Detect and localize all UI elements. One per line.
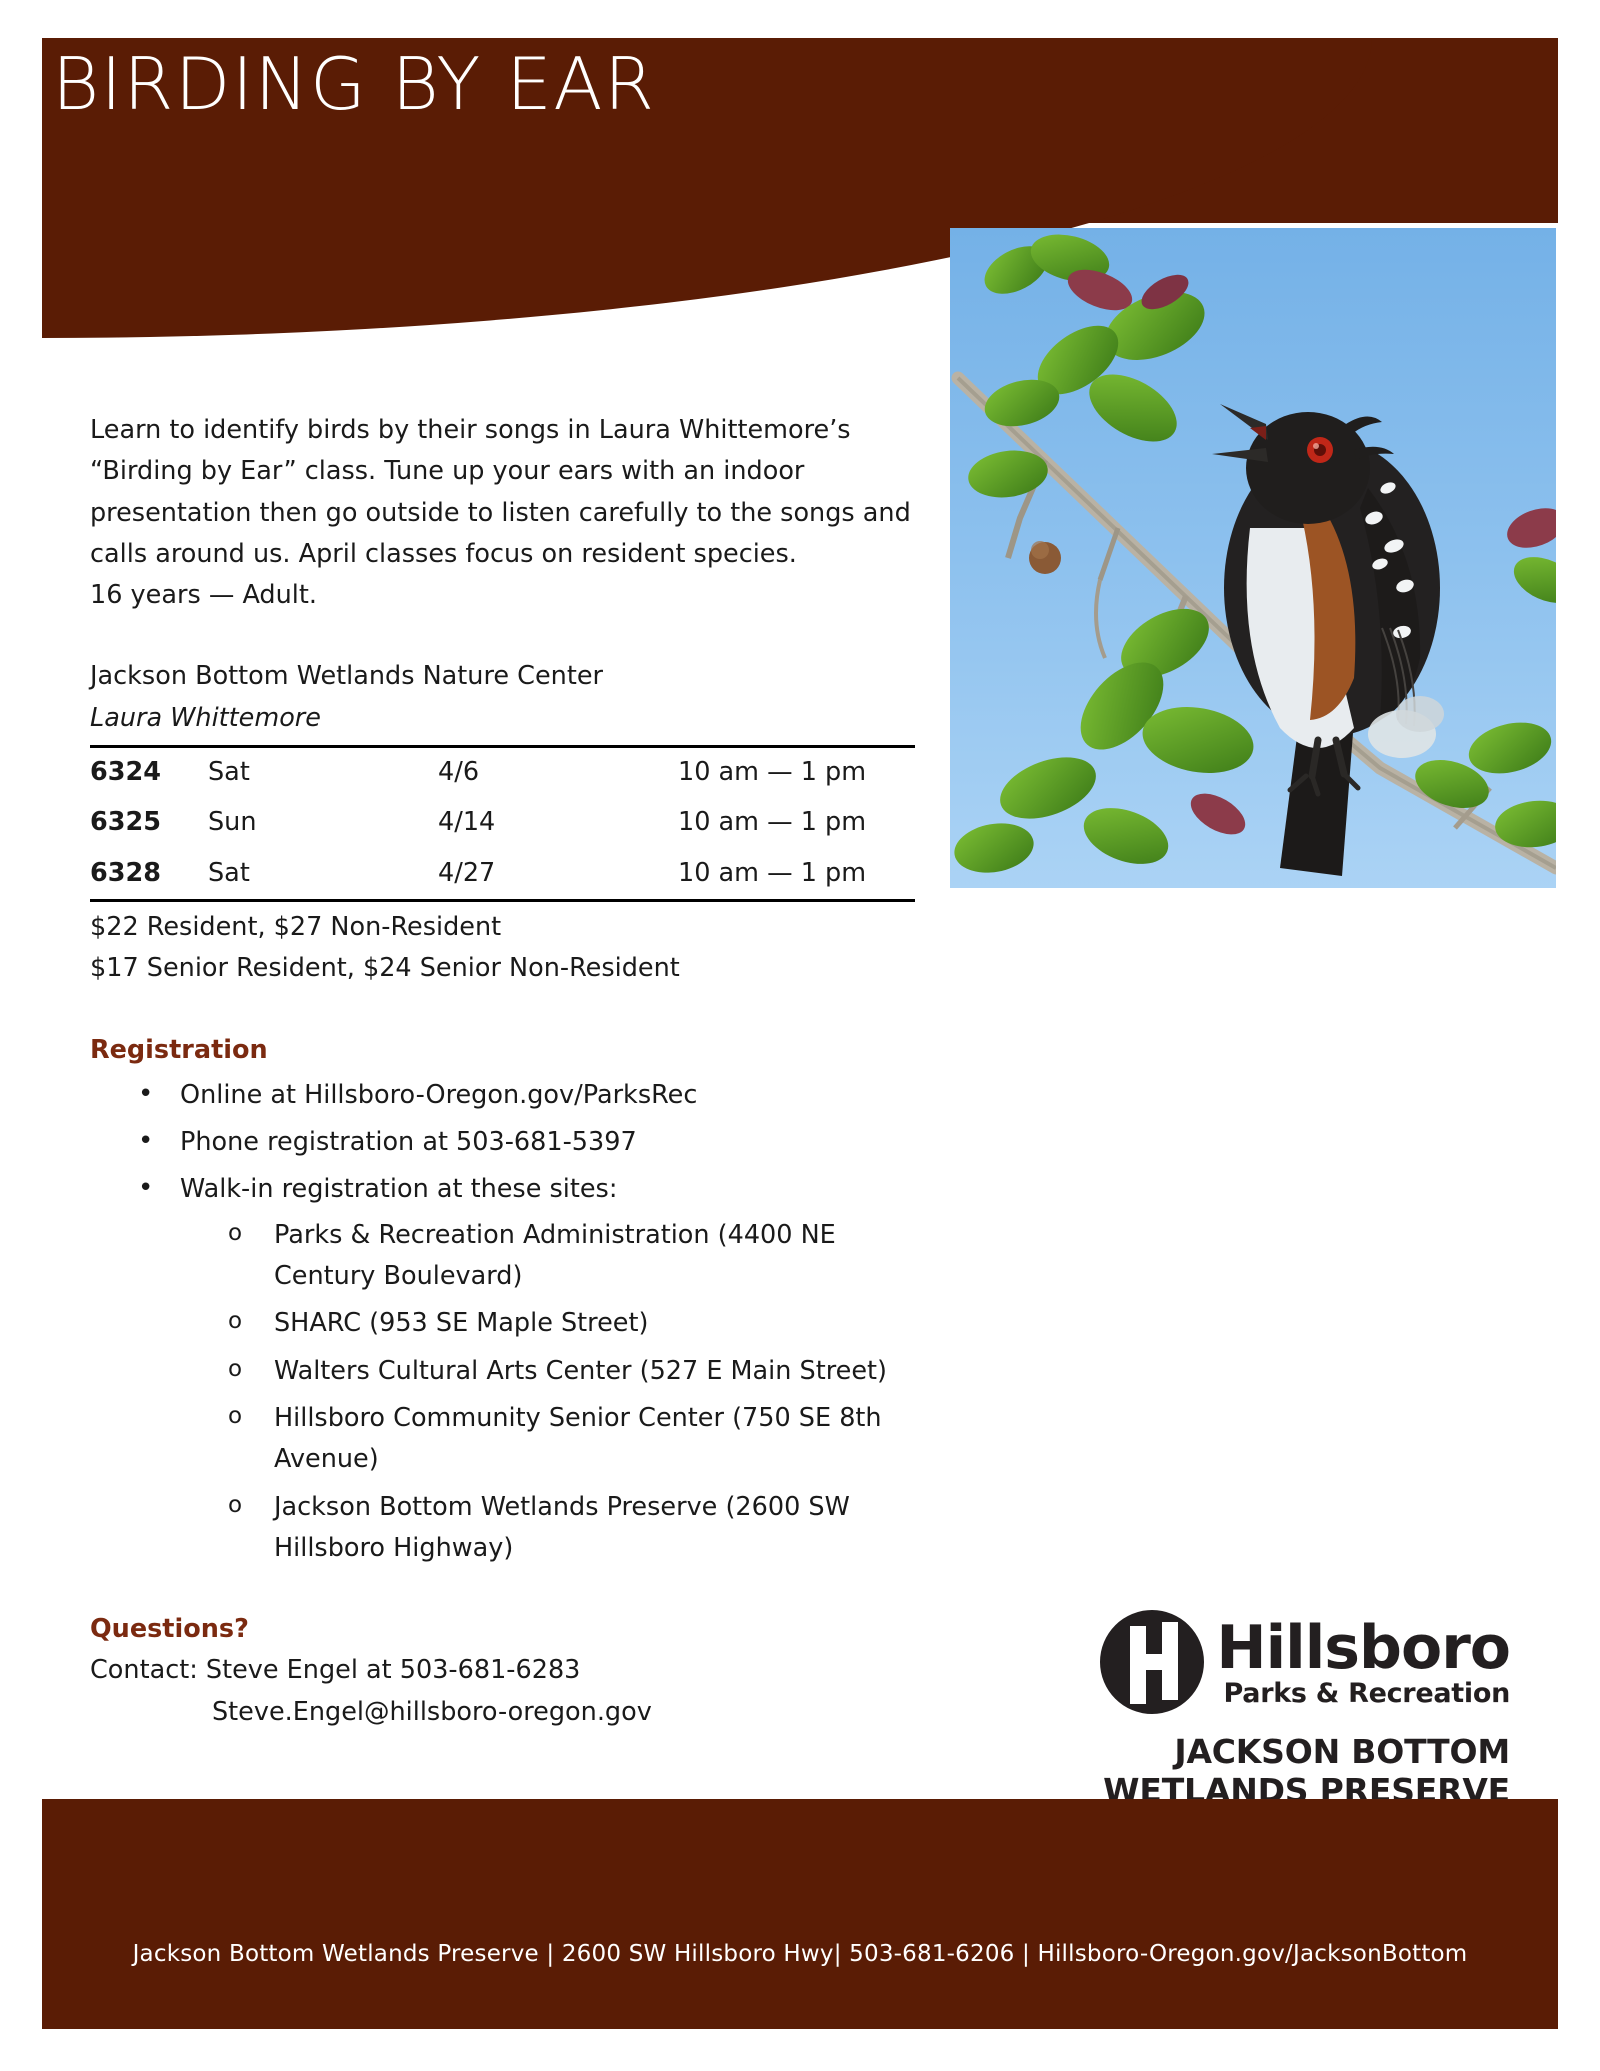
circle-bullet-icon: o [228,1351,242,1388]
page-title: BIRDING BY EAR [52,48,655,120]
class-time: 10 am — 1 pm [678,747,915,799]
footer-banner: Jackson Bottom Wetlands Preserve | 2600 … [42,1799,1558,2029]
class-code: 6328 [90,849,208,901]
walk-in-site: Walters Cultural Arts Center (527 E Main… [274,1356,887,1386]
registration-option-phone: Phone registration at 503-681-5397 [180,1127,637,1157]
list-item: o Hillsboro Community Senior Center (750… [180,1398,920,1481]
contact-value: Steve Engel at 503-681-6283 [206,1655,580,1685]
walk-in-site: Hillsboro Community Senior Center (750 S… [274,1403,882,1474]
body-content: Learn to identify birds by their songs i… [90,410,920,1733]
walk-in-site: Jackson Bottom Wetlands Preserve (2600 S… [274,1492,850,1563]
registration-option-online: Online at Hillsboro-Oregon.gov/ParksRec [180,1080,697,1110]
fee-standard: $22 Resident, $27 Non-Resident [90,907,920,948]
registration-option-walkin: Walk-in registration at these sites: [180,1174,617,1204]
list-item: • Walk-in registration at these sites: o… [90,1169,920,1569]
circle-bullet-icon: o [228,1215,242,1252]
preserve-name-line-1: JACKSON BOTTOM [1090,1733,1510,1772]
fee-senior: $17 Senior Resident, $24 Senior Non-Resi… [90,948,920,989]
walk-in-sites-list: o Parks & Recreation Administration (440… [180,1215,920,1569]
fees-block: $22 Resident, $27 Non-Resident $17 Senio… [90,907,920,990]
logo-name: Hillsboro [1216,1620,1510,1677]
intro-line-2: “Birding by Ear” class. Tune up your ear… [90,451,920,492]
list-item: o Jackson Bottom Wetlands Preserve (2600… [180,1487,920,1570]
intro-line-1: Learn to identify birds by their songs i… [90,410,920,451]
intro-line-3: presentation then go outside to listen c… [90,493,920,534]
logo-subtitle: Parks & Recreation [1216,1679,1510,1709]
class-code: 6325 [90,798,208,848]
contact-email: Steve.Engel@hillsboro-oregon.gov [90,1692,920,1733]
list-item: o Walters Cultural Arts Center (527 E Ma… [180,1351,920,1392]
intro-line-4: calls around us. April classes focus on … [90,534,920,575]
class-day: Sat [208,747,438,799]
class-date: 4/6 [438,747,678,799]
table-row: 6324 Sat 4/6 10 am — 1 pm [90,747,915,799]
list-item: • Phone registration at 503-681-5397 [90,1122,920,1163]
circle-bullet-icon: o [228,1303,242,1340]
circle-bullet-icon: o [228,1398,242,1435]
class-time: 10 am — 1 pm [678,798,915,848]
table-row: 6325 Sun 4/14 10 am — 1 pm [90,798,915,848]
footer-contact-text: Jackson Bottom Wetlands Preserve | 2600 … [42,1941,1558,1967]
list-item: o SHARC (953 SE Maple Street) [180,1303,920,1344]
list-item: • Online at Hillsboro-Oregon.gov/ParksRe… [90,1075,920,1116]
venue-instructor: Laura Whittemore [90,698,920,739]
registration-list: • Online at Hillsboro-Oregon.gov/ParksRe… [90,1075,920,1569]
intro-paragraph: Learn to identify birds by their songs i… [90,410,920,616]
intro-line-5: 16 years — Adult. [90,575,920,616]
bird-photo [950,228,1556,888]
questions-heading: Questions? [90,1609,920,1650]
venue-location: Jackson Bottom Wetlands Nature Center [90,656,920,697]
circle-bullet-icon: o [228,1487,242,1524]
schedule-table: 6324 Sat 4/6 10 am — 1 pm 6325 Sun 4/14 … [90,745,915,902]
venue-block: Jackson Bottom Wetlands Nature Center La… [90,656,920,739]
class-date: 4/14 [438,798,678,848]
walk-in-site: SHARC (953 SE Maple Street) [274,1308,648,1338]
bullet-icon: • [138,1167,153,1209]
hillsboro-h-circle-icon [1100,1610,1204,1719]
contact-label: Contact: [90,1650,198,1691]
bullet-icon: • [138,1120,153,1162]
class-code: 6324 [90,747,208,799]
registration-heading: Registration [90,1030,920,1071]
contact-line: Contact: Steve Engel at 503-681-6283 [90,1650,920,1691]
logo-wordmark: Hillsboro Parks & Recreation [1216,1620,1510,1709]
class-day: Sat [208,849,438,901]
table-row: 6328 Sat 4/27 10 am — 1 pm [90,849,915,901]
walk-in-site: Parks & Recreation Administration (4400 … [274,1220,836,1291]
flyer-page: BIRDING BY EAR [0,0,1600,2071]
class-date: 4/27 [438,849,678,901]
logo-lockup: Hillsboro Parks & Recreation [1090,1610,1510,1719]
class-day: Sun [208,798,438,848]
bullet-icon: • [138,1073,153,1115]
spotted-towhee-illustration [950,228,1556,888]
list-item: o Parks & Recreation Administration (440… [180,1215,920,1298]
footer-brown-swoosh [42,1799,1558,2029]
hillsboro-logo: Hillsboro Parks & Recreation JACKSON BOT… [1090,1610,1510,1811]
class-time: 10 am — 1 pm [678,849,915,901]
